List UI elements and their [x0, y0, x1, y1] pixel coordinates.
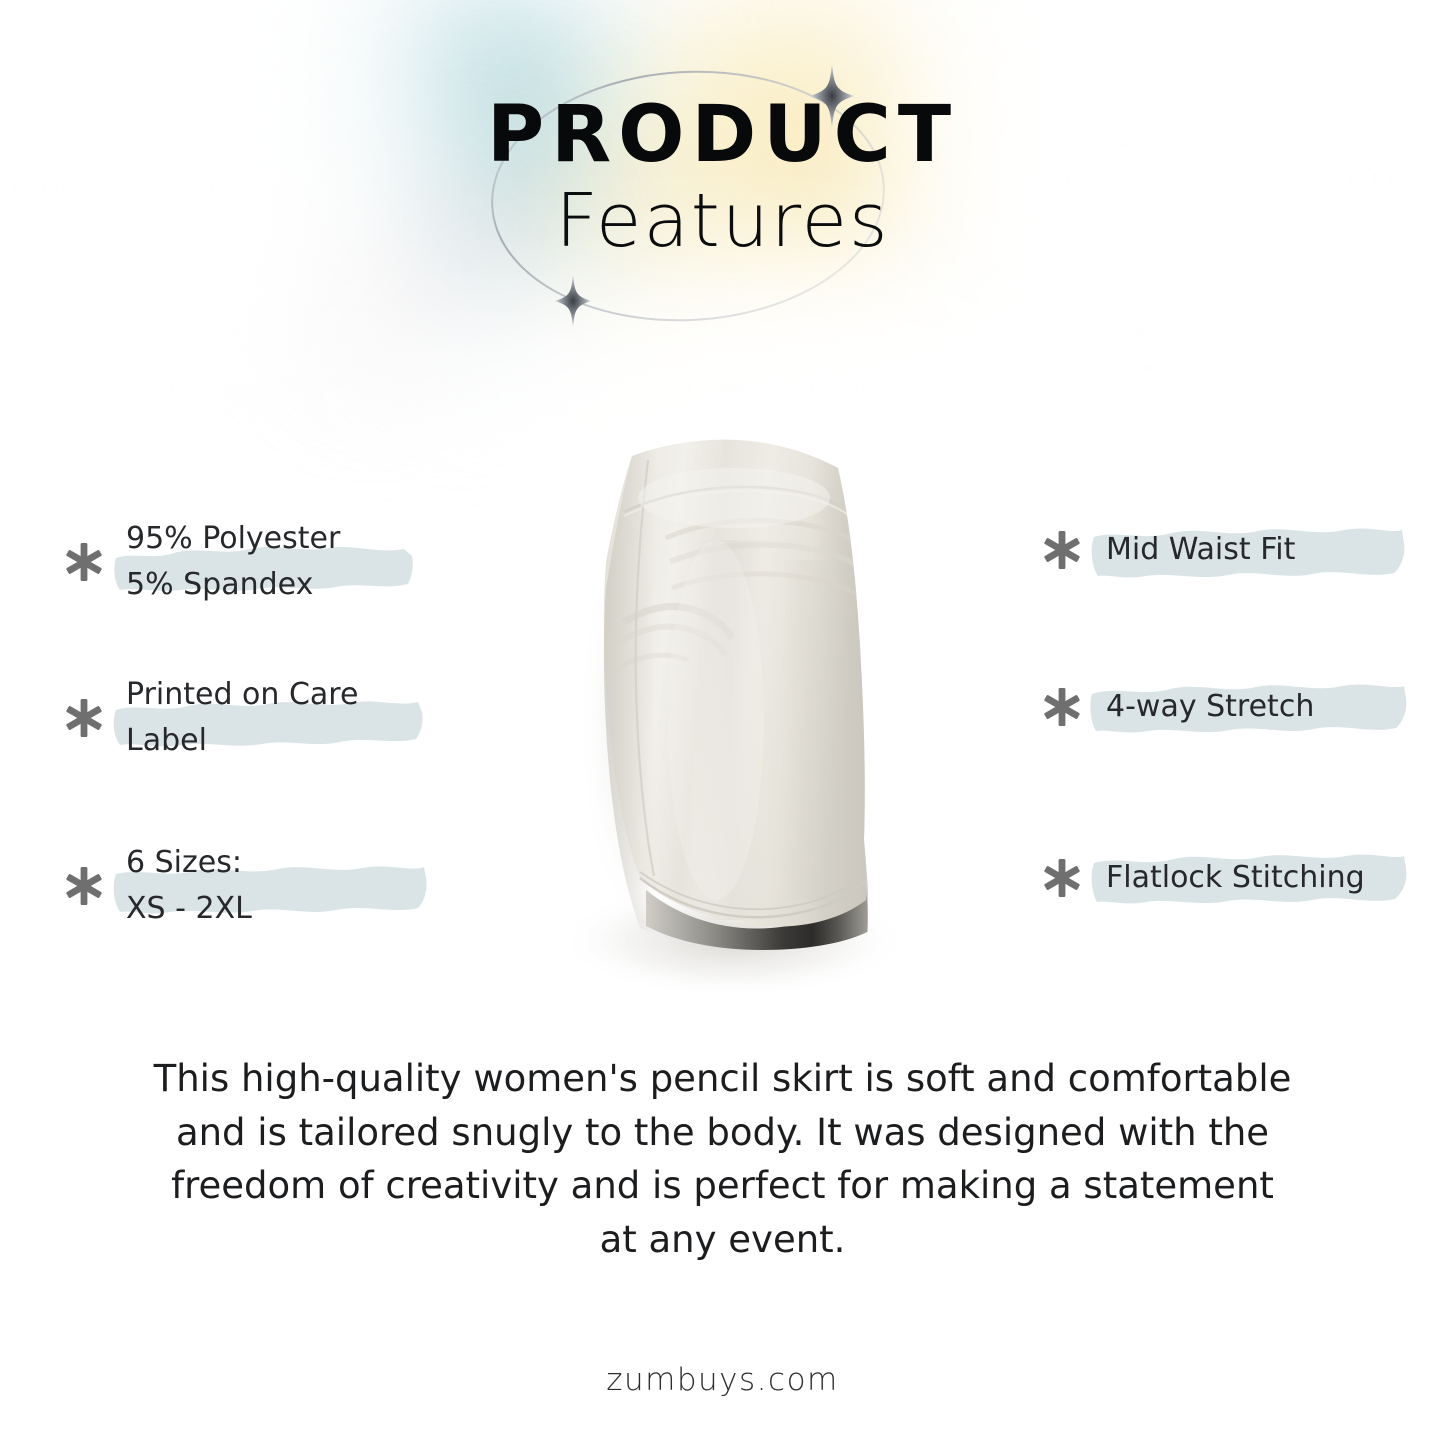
feature-body: Flatlock Stitching — [1106, 855, 1365, 901]
feature-item-waist-fit[interactable]: Mid Waist Fit — [1040, 527, 1295, 573]
product-description: This high-quality women's pencil skirt i… — [150, 1052, 1295, 1267]
feature-item-material[interactable]: 95% Polyester 5% Spandex — [62, 516, 340, 607]
feature-body: 95% Polyester 5% Spandex — [126, 516, 340, 607]
feature-item-sizes[interactable]: 6 Sizes: XS - 2XL — [62, 840, 252, 931]
feature-label: 95% Polyester 5% Spandex — [126, 516, 340, 607]
footer-website-url[interactable]: zumbuys.com — [0, 1362, 1445, 1398]
feature-label: Flatlock Stitching — [1106, 855, 1365, 901]
feature-label: 6 Sizes: XS - 2XL — [126, 840, 252, 931]
asterisk-star-icon — [1040, 528, 1084, 572]
feature-item-stretch[interactable]: 4-way Stretch — [1040, 684, 1314, 730]
feature-body: Mid Waist Fit — [1106, 527, 1295, 573]
feature-body: 4-way Stretch — [1106, 684, 1314, 730]
feature-body: Printed on Care Label — [126, 672, 358, 763]
asterisk-star-icon — [1040, 856, 1084, 900]
feature-label: Printed on Care Label — [126, 672, 358, 763]
sparkle-icon-bottom-left — [555, 275, 591, 327]
asterisk-star-icon — [62, 864, 106, 908]
page-title: PRODUCT — [0, 96, 1445, 174]
feature-label: Mid Waist Fit — [1106, 527, 1295, 573]
infographic-canvas: PRODUCT Features 95% Polyester 5% Spande… — [0, 0, 1445, 1445]
product-image-pencil-skirt — [520, 420, 940, 1020]
title-block: PRODUCT Features — [0, 96, 1445, 263]
feature-item-stitching[interactable]: Flatlock Stitching — [1040, 855, 1365, 901]
feature-item-care-label[interactable]: Printed on Care Label — [62, 672, 358, 763]
asterisk-star-icon — [62, 540, 106, 584]
header-section: PRODUCT Features — [0, 0, 1445, 400]
asterisk-star-icon — [1040, 685, 1084, 729]
asterisk-star-icon — [62, 696, 106, 740]
page-subtitle: Features — [0, 180, 1445, 263]
feature-body: 6 Sizes: XS - 2XL — [126, 840, 252, 931]
feature-label: 4-way Stretch — [1106, 684, 1314, 730]
